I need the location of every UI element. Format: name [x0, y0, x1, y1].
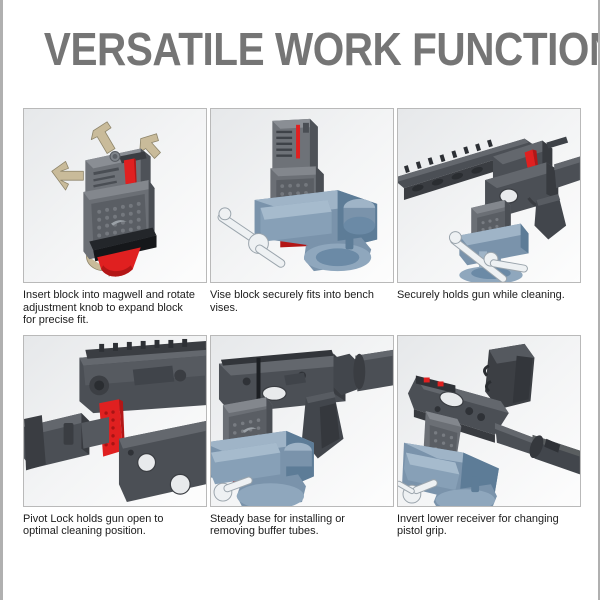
page-title-text: VERSATILE WORK FUNCTIONS [44, 24, 600, 74]
panel-caption: Securely holds gun while cleaning. [397, 289, 572, 302]
panel-caption: Steady base for installing or removing b… [210, 513, 385, 538]
panel-cell-2: Vise block securely fits into bench vise… [210, 108, 396, 327]
panel-bench-vise-fit [210, 108, 394, 283]
panel-caption: Insert block into magwell and rotate adj… [23, 289, 198, 327]
block-clamped-in-bench-vise-icon [211, 109, 393, 282]
panel-magwell-expand [23, 108, 207, 283]
inverted-lower-receiver-with-detached-grip-icon [398, 336, 580, 506]
rifle-hinged-open-with-red-pivot-lock-icon [24, 336, 206, 506]
panel-cell-4: Pivot Lock holds gun open to optimal cle… [23, 335, 209, 538]
panel-grid: Insert block into magwell and rotate adj… [23, 108, 583, 538]
panel-cell-6: Invert lower receiver for changing pisto… [397, 335, 583, 538]
lower-receiver-in-vise-with-buffer-tube-icon [211, 336, 393, 506]
panel-caption: Vise block securely fits into bench vise… [210, 289, 385, 314]
panel-cell-3: Securely holds gun while cleaning. [397, 108, 583, 327]
page-title: VERSATILE WORK FUNCTIONS [3, 24, 600, 74]
rifle-mounted-horizontally-on-vise-icon [398, 109, 580, 282]
panel-caption: Pivot Lock holds gun open to optimal cle… [23, 513, 198, 538]
panel-holds-gun-cleaning [397, 108, 581, 283]
panel-pivot-lock [23, 335, 207, 507]
panel-cell-1: Insert block into magwell and rotate adj… [23, 108, 209, 327]
infographic-root: VERSATILE WORK FUNCTIONS [0, 0, 600, 600]
panel-buffer-tube [210, 335, 394, 507]
panel-cell-5: Steady base for installing or removing b… [210, 335, 396, 538]
panel-caption: Invert lower receiver for changing pisto… [397, 513, 572, 538]
panel-pistol-grip [397, 335, 581, 507]
vise-block-in-magwell-with-expansion-arrows-icon [24, 109, 206, 282]
